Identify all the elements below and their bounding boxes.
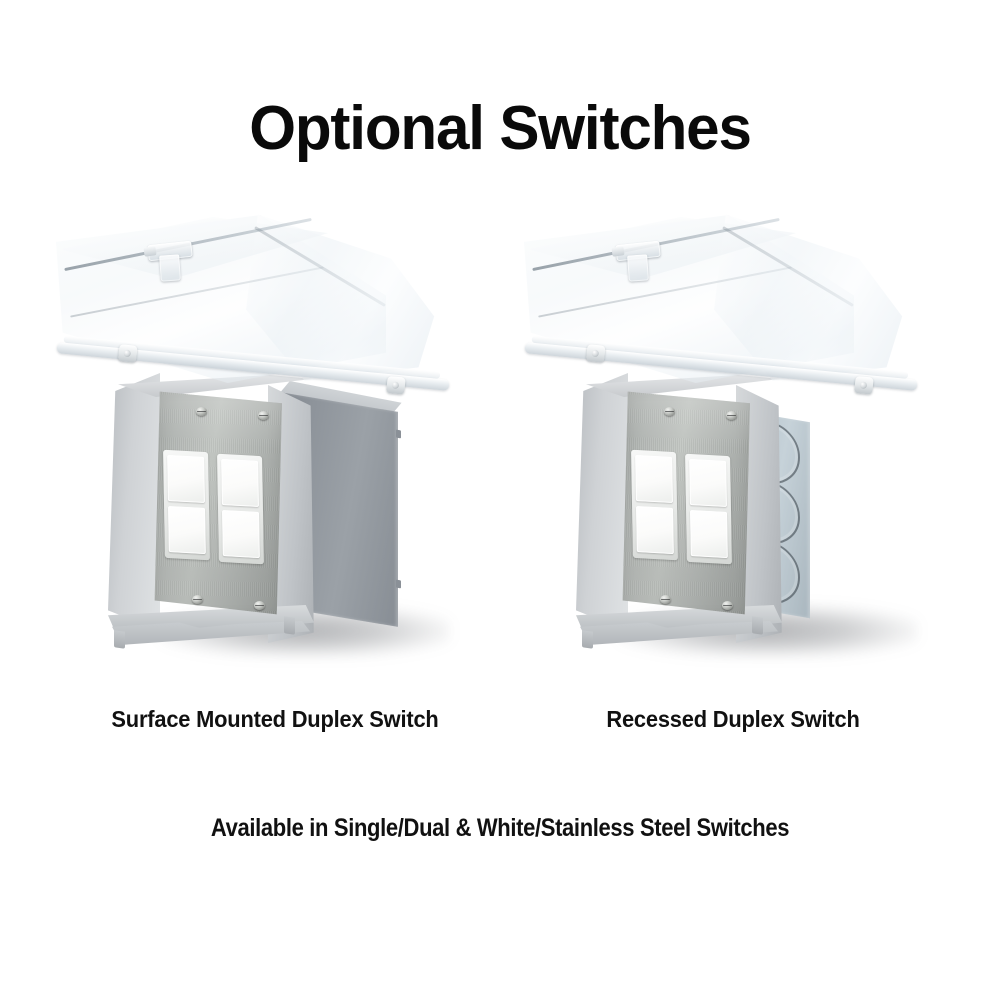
rocker-paddle-lower[interactable] bbox=[168, 506, 206, 554]
plate-screw-bottom-right bbox=[254, 601, 265, 610]
cover-latch-clip[interactable] bbox=[142, 243, 196, 289]
weatherproof-housing bbox=[108, 373, 316, 631]
cover-hinge-left bbox=[586, 344, 606, 363]
availability-footnote: Available in Single/Dual & White/Stainle… bbox=[60, 814, 940, 843]
cover-edge-highlight bbox=[532, 218, 780, 271]
cover-top-face bbox=[528, 217, 796, 279]
latch-body bbox=[615, 241, 660, 262]
housing-foot-left bbox=[114, 630, 125, 649]
cover-edge-highlight bbox=[64, 218, 312, 271]
rocker-switch-frame[interactable] bbox=[163, 450, 210, 561]
caption-surface-mounted-duplex-switch: Surface Mounted Duplex Switch bbox=[52, 706, 499, 733]
rocker-paddle-upper[interactable] bbox=[167, 455, 205, 503]
rocker-paddle-upper[interactable] bbox=[221, 459, 259, 507]
rocker-paddle-lower[interactable] bbox=[222, 510, 260, 558]
cover-side-shoulder bbox=[246, 211, 442, 381]
rocker-paddle-upper[interactable] bbox=[689, 459, 727, 507]
product-surface-mounted-duplex-switch bbox=[30, 205, 500, 675]
product-gallery bbox=[0, 205, 1000, 675]
housing-foot-right bbox=[284, 616, 295, 635]
cover-edge-highlight bbox=[722, 226, 854, 307]
cover-lid-panel bbox=[524, 215, 854, 383]
rocker-paddle-upper[interactable] bbox=[635, 455, 673, 503]
housing-foot-left bbox=[582, 630, 593, 649]
caption-recessed-duplex-switch: Recessed Duplex Switch bbox=[510, 706, 957, 733]
cover-top-face bbox=[60, 217, 328, 279]
plate-screw-bottom-left bbox=[192, 595, 203, 604]
cover-edge-highlight bbox=[70, 266, 324, 317]
weatherproof-housing bbox=[576, 373, 784, 631]
rocker-switch-frame[interactable] bbox=[631, 450, 678, 561]
housing-left-cheek bbox=[576, 373, 628, 631]
cover-hinge-right bbox=[386, 376, 406, 395]
plate-screw-top-right bbox=[726, 411, 737, 420]
plate-screw-top-left bbox=[196, 407, 207, 416]
plate-screw-top-left bbox=[664, 407, 675, 416]
rocker-paddle-lower[interactable] bbox=[690, 510, 728, 558]
plate-screw-bottom-right bbox=[722, 601, 733, 610]
rocker-paddle-lower[interactable] bbox=[636, 506, 674, 554]
housing-foot-right bbox=[752, 616, 763, 635]
page-title: Optional Switches bbox=[15, 98, 985, 160]
product-captions: Surface Mounted Duplex Switch Recessed D… bbox=[0, 706, 1000, 752]
plate-screw-bottom-left bbox=[660, 595, 671, 604]
cover-edge-highlight bbox=[254, 226, 386, 307]
cover-side-shoulder bbox=[714, 211, 910, 381]
latch-body bbox=[147, 241, 192, 262]
rocker-switch-frame[interactable] bbox=[685, 454, 732, 565]
latch-tab[interactable] bbox=[627, 254, 649, 281]
cover-lid-panel bbox=[56, 215, 386, 383]
rocker-switch-frame[interactable] bbox=[217, 454, 264, 565]
latch-pin bbox=[611, 246, 624, 257]
product-recessed-duplex-switch bbox=[498, 205, 968, 675]
housing-left-cheek bbox=[108, 373, 160, 631]
latch-pin bbox=[143, 246, 156, 257]
cover-hinge-right bbox=[854, 376, 874, 395]
plate-screw-top-right bbox=[258, 411, 269, 420]
cover-hinge-left bbox=[118, 344, 138, 363]
cover-latch-clip[interactable] bbox=[610, 243, 664, 289]
cover-edge-highlight bbox=[538, 266, 792, 317]
latch-tab[interactable] bbox=[159, 254, 181, 281]
